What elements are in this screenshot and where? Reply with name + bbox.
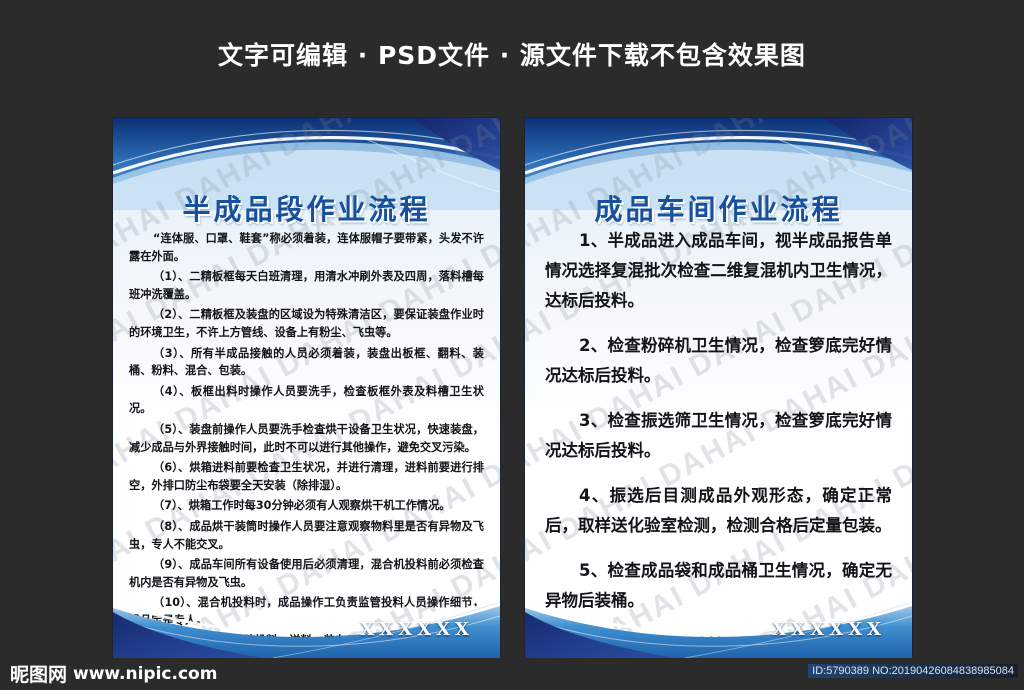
paragraph: （3）、所有半成品接触的人员必须着装，装盘出板框、翻料、装桶、粉料、混合、包装。 <box>129 345 484 380</box>
poster-right[interactable]: DAHAI DAHAI DAHAI DAHAI DAHAI DAHAI DAHA… <box>525 118 912 658</box>
site-logo-cn: 昵图网 <box>10 660 67 687</box>
paragraph: “连体服、口罩、鞋套”称必须着装，连体服帽子要带紧，头发不许露在外面。 <box>129 230 484 265</box>
paragraph: （1）、二精板框每天白班清理，用清水冲刷外表及四周，落料槽每班冲洗覆盖。 <box>129 268 484 303</box>
paragraph: 1、半成品进入成品车间，视半成品报告单情况选择复混批次检查二维复混机内卫生情况，… <box>545 226 892 316</box>
paragraph: （5）、装盘前操作人员要洗手检查烘干设备卫生状况，快速装盘，减少成品与外界接触时… <box>129 421 484 456</box>
banner-title: 文字可编辑 · PSD文件 · 源文件下载不包含效果图 <box>218 36 806 72</box>
paragraph: （8）、成品烘干装筒时操作人员要注意观察物料里是否有异物及飞虫，专人不能交叉。 <box>129 518 484 553</box>
poster-right-corner-mark: XXXXXX <box>772 619 886 640</box>
footer-bar: 昵图网 www.nipic.com ID:5790389 NO:20190426… <box>0 658 1024 690</box>
paragraph: 2、检查粉碎机卫生情况，检查箩底完好情况达标后投料。 <box>545 331 892 391</box>
site-logo[interactable]: 昵图网 www.nipic.com <box>10 660 217 687</box>
poster-right-title: 成品车间作业流程 <box>525 188 912 228</box>
paragraph: 4、振选后目测成品外观形态，确定正常后，取样送化验室检测，检测合格后定量包装。 <box>545 481 892 541</box>
top-banner: 文字可编辑 · PSD文件 · 源文件下载不包含效果图 <box>0 0 1024 108</box>
image-id-text: ID:5790389 NO:20190426084838985084 <box>808 664 1018 678</box>
wave-bottom-decoration <box>113 572 500 658</box>
paragraph: （6）、烘箱进料前要检查卫生状况，并进行清理，进料前要进行排空，外排口防尘布袋要… <box>129 459 484 494</box>
poster-left[interactable]: DAHAI DAHAI DAHAI DAHAI DAHAI DAHAI DAHA… <box>113 118 500 658</box>
wave-bottom-decoration <box>525 572 912 658</box>
site-logo-url: www.nipic.com <box>73 664 217 684</box>
paragraph: 3、检查振选筛卫生情况，检查箩底完好情况达标后投料。 <box>545 406 892 466</box>
poster-left-title: 半成品段作业流程 <box>113 188 500 228</box>
poster-left-corner-mark: XXXXXX <box>360 619 474 640</box>
paragraph: （2）、二精板框及装盘的区域设为特殊清洁区，要保证装盘作业时的环境卫生，不许上方… <box>129 306 484 341</box>
paragraph: （7）、烘箱工作时每30分钟必须有人观察烘干机工作情况。 <box>129 497 484 515</box>
paragraph: （4）、板框出料时操作人员要洗手，检查板框外表及料槽卫生状况。 <box>129 383 484 418</box>
